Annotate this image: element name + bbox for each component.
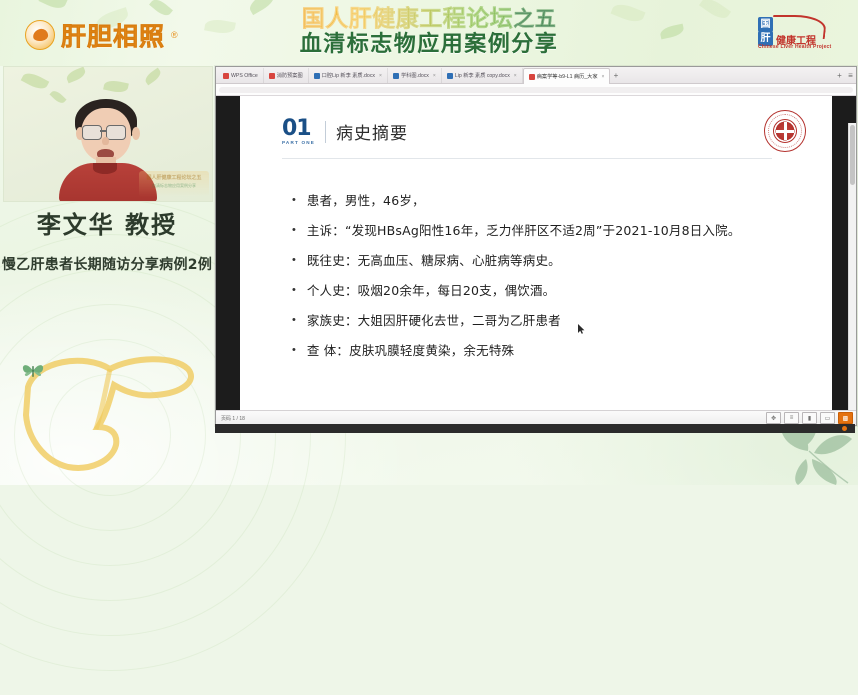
browser-tab-label: WPS Office xyxy=(231,73,258,79)
view-icon-fit[interactable]: ✥ xyxy=(766,412,781,424)
bullet-text: 家族史：大姐因肝硬化去世，二哥为乙肝患者 xyxy=(307,312,561,329)
tab-favicon-icon xyxy=(529,74,535,80)
browser-tab[interactable]: WPS Office xyxy=(218,68,264,83)
browser-tab-bar[interactable]: WPS Office 消防预案图 口腔Lip 新李 素质.docx × 学科图.… xyxy=(216,67,856,84)
list-item: • 查 体：皮肤巩膜轻度黄染，余无特殊 xyxy=(292,342,802,359)
browser-tab-label: 口腔Lip 新李 素质.docx xyxy=(322,72,375,79)
browser-tab[interactable]: 学科图.docx × xyxy=(388,68,442,83)
bullet-text: 主诉：“发现HBsAg阳性16年，乏力伴肝区不适2周”于2021-10月8日入院… xyxy=(307,222,741,239)
slide-underline xyxy=(282,158,772,159)
tab-bar-spacer xyxy=(621,67,834,83)
browser-tab-label: 消防预案图 xyxy=(277,72,303,79)
bullet-text: 个人史：吸烟20余年，每日20支，偶饮酒。 xyxy=(307,282,556,299)
page-background: 肝胆相照 ® 国人肝健康工程论坛之五 血清标志物应用案例分享 国 肝 健康工程 … xyxy=(0,0,858,485)
tab-close-icon[interactable]: × xyxy=(602,74,605,80)
browser-tab[interactable]: 口腔Lip 新李 素质.docx × xyxy=(309,68,388,83)
brand-registered-mark: ® xyxy=(171,30,178,40)
liver-outline-decoration xyxy=(6,335,206,495)
browser-tab-active[interactable]: 病案学等-b9-L1 病历_大家 × xyxy=(523,68,611,84)
document-status-bar[interactable]: 页码 1 / 18 ✥ ≡ ▮ ▭ ▩ xyxy=(216,410,856,425)
scrollbar-thumb[interactable] xyxy=(850,125,855,185)
seal-cross-vertical xyxy=(784,122,787,140)
document-scrollbar[interactable] xyxy=(848,123,856,423)
eyeglasses-right-lens-icon xyxy=(106,125,126,140)
tab-favicon-icon xyxy=(223,73,229,79)
project-logo-char-guo: 国 xyxy=(758,17,773,32)
bullet-marker: • xyxy=(292,282,296,299)
bullet-text: 患者，男性，46岁， xyxy=(307,192,425,209)
butterfly-icon xyxy=(22,362,44,380)
section-number: 01 xyxy=(282,118,315,140)
video-watermark-line2: 血清标志物应用案例分享 xyxy=(139,182,209,189)
shirt-collar xyxy=(93,163,117,174)
taskbar-indicator-icon xyxy=(842,426,847,431)
bullet-text: 既往史：无高血压、糖尿病、心脏病等病史。 xyxy=(307,252,561,269)
event-title: 国人肝健康工程论坛之五 血清标志物应用案例分享 xyxy=(259,6,599,57)
video-watermark-line1: 国人肝健康工程论坛之五 xyxy=(139,171,209,182)
bullet-text: 查 体：皮肤巩膜轻度黄染，余无特殊 xyxy=(307,342,514,359)
browser-tab-label: 学科图.docx xyxy=(401,72,429,79)
tab-close-icon[interactable]: × xyxy=(514,73,517,79)
nose xyxy=(102,137,109,145)
project-logo: 国 肝 健康工程 Chinese Liver Health Project xyxy=(752,12,830,54)
tab-favicon-icon xyxy=(269,73,275,79)
seal-inner xyxy=(773,119,797,143)
browser-tab-label: 病案学等-b9-L1 病历_大家 xyxy=(537,73,598,80)
list-item: • 家族史：大姐因肝硬化去世，二哥为乙肝患者 xyxy=(292,312,802,329)
speaker-video[interactable]: 国人肝健康工程论坛之五 血清标志物应用案例分享 xyxy=(3,66,213,202)
browser-toolbar[interactable] xyxy=(216,84,856,96)
speaker-name: 李文华 教授 xyxy=(0,205,214,240)
bullet-marker: • xyxy=(292,312,296,329)
header-banner: 肝胆相照 ® 国人肝健康工程论坛之五 血清标志物应用案例分享 国 肝 健康工程 … xyxy=(0,0,858,66)
section-part-label: PART ONE xyxy=(282,141,315,146)
browser-tab[interactable]: Lip 新李 素质 copy.docx × xyxy=(442,68,523,83)
list-item: • 患者，男性，46岁， xyxy=(292,192,802,209)
browser-tab-label: Lip 新李 素质 copy.docx xyxy=(455,72,510,79)
tab-close-icon[interactable]: × xyxy=(379,73,382,79)
video-watermark: 国人肝健康工程论坛之五 血清标志物应用案例分享 xyxy=(139,171,209,197)
list-item: • 既往史：无高血压、糖尿病、心脏病等病史。 xyxy=(292,252,802,269)
institution-seal-logo xyxy=(764,110,806,152)
new-tab-button-right[interactable]: + xyxy=(834,68,845,83)
view-icon-list[interactable]: ≡ xyxy=(784,412,799,424)
new-tab-button[interactable]: + xyxy=(610,68,621,83)
list-item: • 主诉：“发现HBsAg阳性16年，乏力伴肝区不适2周”于2021-10月8日… xyxy=(292,222,802,239)
liver-mark-icon xyxy=(25,20,55,50)
speaker-info: 李文华 教授 慢乙肝患者长期随访分享病例2例 xyxy=(0,205,214,274)
event-title-line2: 血清标志物应用案例分享 xyxy=(259,32,599,57)
section-number-block: 01 PART ONE xyxy=(282,118,315,146)
bullet-marker: • xyxy=(292,252,296,269)
tab-favicon-icon xyxy=(393,73,399,79)
ear-right xyxy=(132,127,140,140)
slide-bullet-list: • 患者，男性，46岁， • 主诉：“发现HBsAg阳性16年，乏力伴肝区不适2… xyxy=(292,192,802,372)
tab-favicon-icon xyxy=(314,73,320,79)
browser-tab[interactable]: 消防预案图 xyxy=(264,68,309,83)
document-canvas[interactable]: 01 PART ONE 病史摘要 • xyxy=(216,96,856,411)
eyeglasses-left-lens-icon xyxy=(82,125,102,140)
view-icon-grid[interactable]: ▩ xyxy=(838,412,853,424)
bullet-marker: • xyxy=(292,222,296,239)
eyeglasses-bridge xyxy=(100,130,106,132)
speaker-topic: 慢乙肝患者长期随访分享病例2例 xyxy=(0,254,214,274)
project-logo-english: Chinese Liver Health Project xyxy=(758,44,831,50)
title-divider xyxy=(325,121,326,143)
slide-header: 01 PART ONE 病史摘要 xyxy=(282,118,408,146)
event-title-line1-suffix: 之五 xyxy=(513,7,556,31)
event-title-line1: 国人肝健康工程论坛 xyxy=(302,6,514,32)
tab-favicon-icon xyxy=(447,73,453,79)
brand-name: 肝胆相照 xyxy=(61,17,165,53)
page-indicator: 页码 1 / 18 xyxy=(221,415,245,422)
bullet-marker: • xyxy=(292,342,296,359)
view-icon-spread[interactable]: ▭ xyxy=(820,412,835,424)
view-icon-single[interactable]: ▮ xyxy=(802,412,817,424)
shared-screen[interactable]: WPS Office 消防预案图 口腔Lip 新李 素质.docx × 学科图.… xyxy=(215,66,857,426)
slide-page: 01 PART ONE 病史摘要 • xyxy=(240,96,832,411)
list-item: • 个人史：吸烟20余年，每日20支，偶饮酒。 xyxy=(292,282,802,299)
tab-close-icon[interactable]: × xyxy=(433,73,436,79)
brand-logo: 肝胆相照 ® xyxy=(25,17,178,53)
address-bar[interactable] xyxy=(219,87,853,93)
slide-title: 病史摘要 xyxy=(336,119,408,144)
bullet-marker: • xyxy=(292,192,296,209)
browser-menu-icon[interactable]: ≡ xyxy=(845,68,856,83)
taskbar-strip xyxy=(215,424,855,433)
